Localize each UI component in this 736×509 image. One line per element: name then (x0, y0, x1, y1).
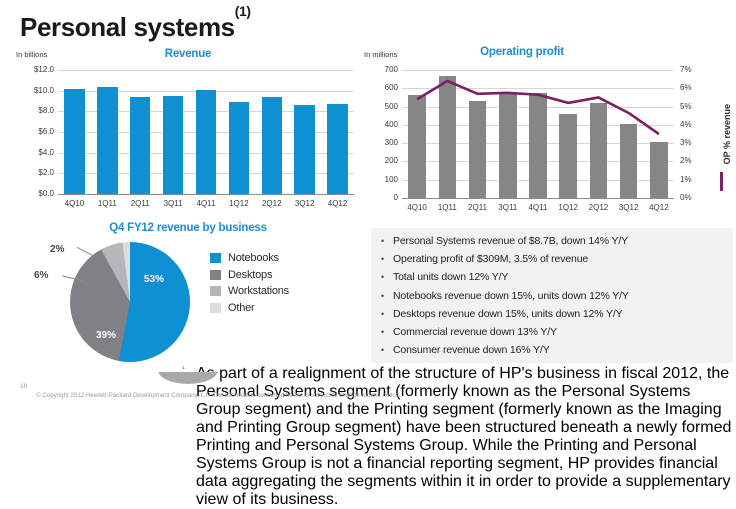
revenue-category-label: 2Q11 (124, 199, 157, 208)
revenue-bar (294, 105, 314, 194)
pie-legend-swatch (210, 270, 221, 280)
revenue-chart: In billions Revenue $12.0$10.0$8.0$6.0$4… (12, 48, 364, 223)
revenue-bar (97, 87, 117, 194)
op-percent-line (402, 70, 674, 198)
revenue-bar (196, 90, 216, 194)
pie-legend-swatch (210, 286, 221, 296)
op-ytick-label-left: 700 (362, 65, 398, 74)
pie-legend: NotebooksDesktopsWorkstationsOther (210, 250, 289, 316)
pie-slices (70, 242, 190, 362)
pie-legend-item[interactable]: Workstations (210, 283, 289, 300)
revenue-ytick-label: $8.0 (12, 106, 54, 115)
op-category-label: 4Q10 (402, 203, 432, 212)
highlight-item: Total units down 12% Y/Y (379, 268, 727, 286)
decorative-arc (158, 372, 218, 384)
op-category-label: 4Q11 (523, 203, 553, 212)
revenue-category-label: 2Q12 (255, 199, 288, 208)
op-ytick-label-right: 7% (680, 65, 706, 74)
pie-legend-item[interactable]: Other (210, 300, 289, 317)
op-ytick-label-right: 5% (680, 102, 706, 111)
pie-legend-label: Notebooks (228, 252, 279, 264)
pie-legend-swatch (210, 253, 221, 263)
pie-legend-item[interactable]: Desktops (210, 267, 289, 284)
highlight-item: Commercial revenue down 13% Y/Y (379, 323, 727, 341)
op-ytick-label-right: 6% (680, 83, 706, 92)
pie-legend-label: Desktops (228, 269, 272, 281)
op-ytick-label-left: 300 (362, 138, 398, 147)
highlight-item: Personal Systems revenue of $8.7B, down … (379, 232, 727, 250)
op-category-label: 1Q12 (553, 203, 583, 212)
highlight-item: Operating profit of $309M, 3.5% of reven… (379, 250, 727, 268)
revenue-category-label: 3Q11 (157, 199, 190, 208)
pie-slice-label: 39% (96, 330, 116, 341)
op-ytick-label-right: 0% (680, 193, 706, 202)
highlight-item: Desktops revenue down 15%, units down 12… (379, 305, 727, 323)
revenue-ytick-label: $10.0 (12, 86, 54, 95)
revenue-chart-title: Revenue (12, 48, 364, 60)
highlight-item: Notebooks revenue down 15%, units down 1… (379, 287, 727, 305)
op-ytick-label-left: 500 (362, 102, 398, 111)
op-category-label: 3Q12 (614, 203, 644, 212)
revenue-ytick-label: $12.0 (12, 65, 54, 74)
revenue-bar (262, 97, 282, 194)
footnote-number: 1. (182, 365, 186, 370)
pie-legend-label: Other (228, 302, 255, 314)
revenue-bar (64, 89, 84, 194)
highlight-item: Consumer revenue down 16% Y/Y (379, 341, 727, 359)
revenue-category-label: 1Q12 (222, 199, 255, 208)
pie-legend-item[interactable]: Notebooks (210, 250, 289, 267)
op-secondary-axis-label: OP % revenue (722, 104, 732, 164)
page-title-footnote-marker: (1) (235, 3, 251, 19)
op-category-label: 2Q12 (583, 203, 613, 212)
revenue-axis-baseline (58, 194, 354, 195)
pie-slice-label: 2% (50, 244, 64, 255)
revenue-by-business-section: Q4 FY12 revenue by business 53%39%6%2% N… (12, 222, 364, 372)
highlights-panel: Personal Systems revenue of $8.7B, down … (371, 228, 733, 363)
revenue-category-label: 4Q10 (58, 199, 91, 208)
op-ytick-label-right: 2% (680, 156, 706, 165)
pie-legend-swatch (210, 303, 221, 313)
op-ytick-label-left: 0 (362, 193, 398, 202)
revenue-ytick-label: $6.0 (12, 127, 54, 136)
revenue-bar (327, 104, 347, 194)
revenue-gridline (58, 70, 354, 71)
revenue-plot-area (58, 70, 354, 194)
op-category-label: 4Q12 (644, 203, 674, 212)
revenue-bar (130, 97, 150, 194)
operating-profit-chart: In millions Operating profit OP % revenu… (362, 44, 736, 226)
revenue-category-label: 1Q11 (91, 199, 124, 208)
op-ytick-label-left: 400 (362, 120, 398, 129)
highlights-list: Personal Systems revenue of $8.7B, down … (371, 228, 733, 359)
footnote-text: As part of a realignment of the structur… (196, 365, 734, 509)
op-plot-area (402, 70, 674, 198)
op-ytick-label-right: 1% (680, 175, 706, 184)
revenue-category-label: 4Q12 (321, 199, 354, 208)
op-ytick-label-left: 600 (362, 83, 398, 92)
pie-slice-label: 6% (34, 270, 48, 281)
revenue-category-label: 4Q11 (190, 199, 223, 208)
page-title-text: Personal systems (20, 12, 235, 42)
pie-chart-title: Q4 FY12 revenue by business (12, 222, 364, 234)
revenue-bar (163, 96, 183, 194)
op-axis-baseline (402, 198, 674, 199)
revenue-ytick-label: $0.0 (12, 189, 54, 198)
op-ytick-label-left: 200 (362, 156, 398, 165)
revenue-ytick-label: $4.0 (12, 148, 54, 157)
op-category-label: 1Q11 (432, 203, 462, 212)
op-ytick-label-right: 4% (680, 120, 706, 129)
pie-slice-label: 53% (144, 274, 164, 285)
page-title: Personal systems(1) (20, 12, 251, 43)
slide-number: 10 (20, 383, 27, 390)
op-percent-line-legend-swatch (720, 172, 723, 191)
revenue-bar (229, 102, 249, 194)
op-ytick-label-left: 100 (362, 175, 398, 184)
op-chart-title: Operating profit (372, 46, 672, 58)
revenue-ytick-label: $2.0 (12, 168, 54, 177)
slide-canvas: Personal systems(1) In billions Revenue … (0, 0, 736, 411)
pie-legend-label: Workstations (228, 285, 289, 297)
op-category-label: 3Q11 (493, 203, 523, 212)
revenue-category-label: 3Q12 (288, 199, 321, 208)
copyright-notice: © Copyright 2012 Hewlett-Packard Develop… (36, 392, 401, 399)
pie-chart: 53%39%6%2% (70, 242, 190, 362)
op-category-label: 2Q11 (462, 203, 492, 212)
op-ytick-label-right: 3% (680, 138, 706, 147)
